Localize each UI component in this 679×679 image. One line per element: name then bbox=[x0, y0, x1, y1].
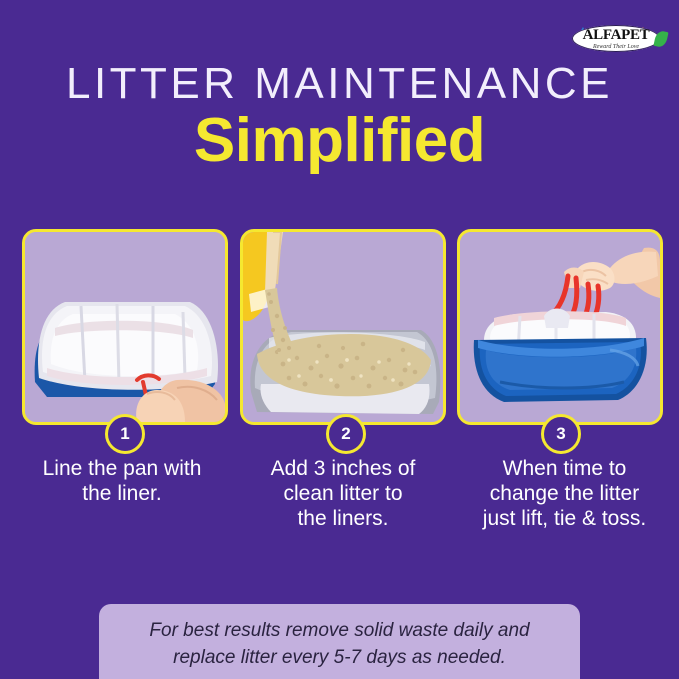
step-2-number-badge: 2 bbox=[326, 414, 366, 454]
step-captions: Line the pan with the liner. Add 3 inche… bbox=[0, 456, 679, 566]
step-3-caption: When time to change the litter just lift… bbox=[450, 456, 679, 531]
headline-line-2: Simplified bbox=[0, 106, 679, 176]
step-3-caption-line-2: change the litter bbox=[450, 481, 679, 506]
step-2-caption-line-1: Add 3 inches of bbox=[231, 456, 455, 481]
step-2-caption: Add 3 inches of clean litter to the line… bbox=[231, 456, 455, 531]
step-1-number-badge: 1 bbox=[105, 414, 145, 454]
step-panels bbox=[0, 229, 679, 429]
step-2-caption-line-3: the liners. bbox=[231, 506, 455, 531]
poster-canvas: ALFAPET Reward Their Love LITTER MAINTEN… bbox=[0, 0, 679, 679]
alfapet-logo: ALFAPET Reward Their Love bbox=[566, 11, 666, 58]
step-1-caption-line-1: Line the pan with bbox=[10, 456, 234, 481]
step-3-image-panel bbox=[457, 229, 663, 425]
step-1-photo bbox=[25, 232, 225, 422]
headline-line-1: LITTER MAINTENANCE bbox=[0, 58, 679, 110]
step-2-caption-line-2: clean litter to bbox=[231, 481, 455, 506]
step-3-number-badge: 3 bbox=[541, 414, 581, 454]
headline: LITTER MAINTENANCE Simplified bbox=[0, 58, 679, 176]
footer-note: For best results remove solid waste dail… bbox=[99, 604, 580, 679]
logo-wordmark: ALFAPET bbox=[572, 26, 660, 44]
footer-line-1: For best results remove solid waste dail… bbox=[99, 617, 580, 644]
footer-line-2: replace litter every 5-7 days as needed. bbox=[99, 644, 580, 671]
step-1-caption-line-2: the liner. bbox=[10, 481, 234, 506]
step-3-photo bbox=[460, 232, 660, 422]
step-2-image-panel bbox=[240, 229, 446, 425]
step-2-photo bbox=[243, 232, 443, 422]
step-3-caption-line-1: When time to bbox=[450, 456, 679, 481]
step-1-caption: Line the pan with the liner. bbox=[10, 456, 234, 506]
logo-tagline: Reward Their Love bbox=[572, 43, 660, 52]
step-1-image-panel bbox=[22, 229, 228, 425]
step-3-caption-line-3: just lift, tie & toss. bbox=[450, 506, 679, 531]
